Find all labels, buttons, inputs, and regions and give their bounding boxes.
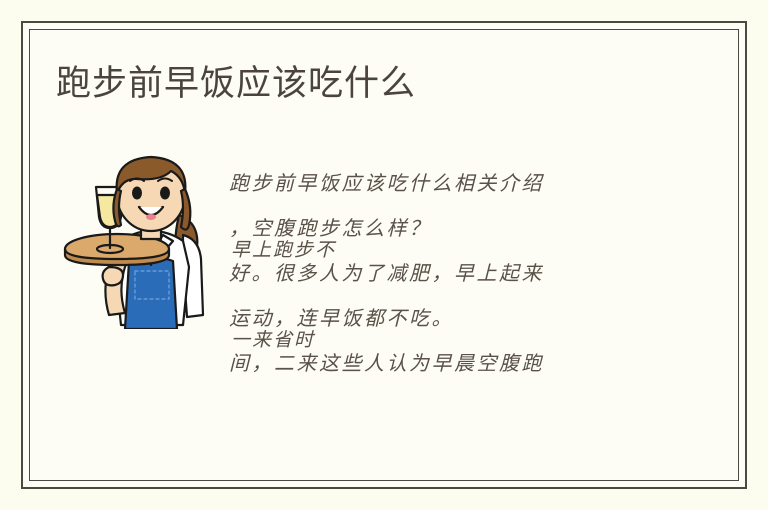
page-title: 跑步前早饭应该吃什么: [56, 62, 416, 106]
overlap-fragment-1: 早上跑步不: [231, 235, 336, 262]
article-body: 跑步前早饭应该吃什么相关介绍 ，空腹跑步怎么样？ 早上跑步不 好。很多人为了减肥…: [229, 161, 669, 386]
article-page: 跑步前早饭应该吃什么: [0, 0, 768, 510]
waitress-illustration: [55, 139, 230, 329]
overlap-fragment-2: 一来省时: [231, 325, 315, 352]
body-line-1: 跑步前早饭应该吃什么相关介绍: [229, 161, 669, 206]
article-content: 跑步前早饭应该吃什么: [29, 29, 739, 481]
